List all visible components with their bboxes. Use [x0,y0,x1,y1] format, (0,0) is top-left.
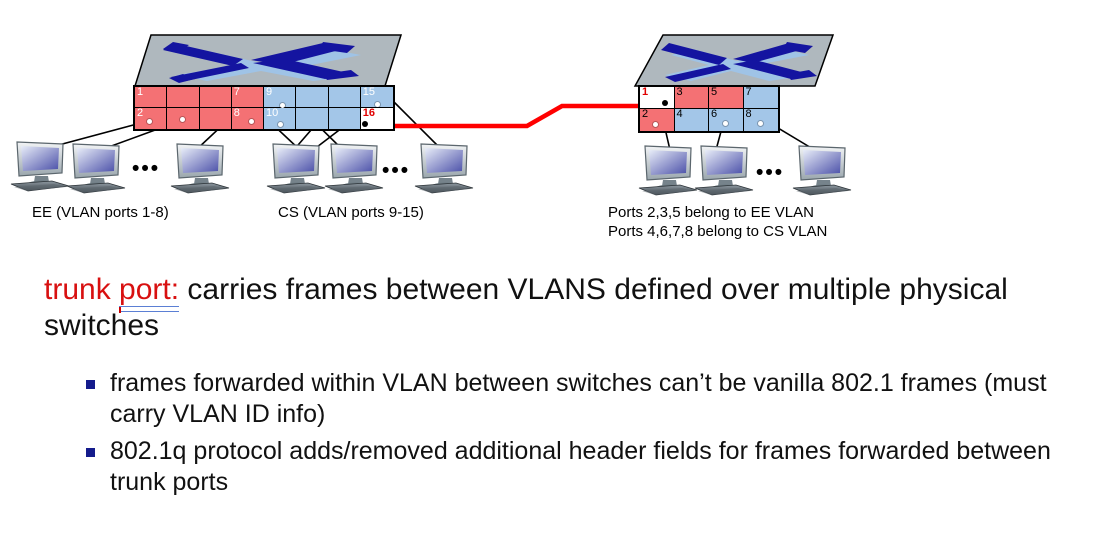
pc-host-4 [264,142,328,198]
lead-rest-text: carries frames between VLANS defined ove… [44,273,1008,342]
ellipsis-right: ••• [756,162,784,183]
right-switch-ports: 1 3 5 7 2 4 6 8 [638,85,780,133]
right-port-5[interactable]: 5 [709,87,744,109]
port-blank-t6[interactable] [296,87,328,108]
right-switch-top [633,33,843,89]
right-port-4[interactable]: 4 [675,109,710,131]
port-blank-t3[interactable] [200,87,232,108]
port-1[interactable]: 1 [135,87,167,108]
port-10[interactable]: 10 [264,108,296,129]
port-blank-b3[interactable] [200,108,232,129]
right-port-3[interactable]: 3 [675,87,710,109]
pc-host-r2 [692,144,756,200]
right-switch: 1 3 5 7 2 4 6 8 [633,33,843,133]
caption-cs-vlan: CS (VLAN ports 9-15) [278,203,424,222]
caption-right-line1: Ports 2,3,5 belong to EE VLAN [608,203,814,222]
right-port-6[interactable]: 6 [709,109,744,131]
port-7[interactable]: 7 [232,87,264,108]
pc-host-r3 [790,144,854,200]
right-port-7[interactable]: 7 [744,87,779,109]
square-bullet-icon [86,448,95,457]
bullet-list: frames forwarded within VLAN between swi… [86,368,1086,504]
bullet-item-1: frames forwarded within VLAN between swi… [86,368,1086,430]
port-9[interactable]: 9 [264,87,296,108]
port-16-trunk[interactable]: 16 [361,108,393,129]
caption-right-line2: Ports 4,6,7,8 belong to CS VLAN [608,222,827,241]
pc-host-5 [322,142,386,198]
lead-keyword-port-text: port: [119,273,179,306]
slide-canvas: 1 7 9 15 2 8 10 16 [0,0,1104,533]
grammar-underline-icon [119,306,179,312]
right-port-8[interactable]: 8 [744,109,779,131]
port-blank-t7[interactable] [329,87,361,108]
grammar-tick-icon [119,307,121,313]
port-blank-b7[interactable] [329,108,361,129]
caption-ee-vlan: EE (VLAN ports 1-8) [32,203,169,222]
port-2[interactable]: 2 [135,108,167,129]
lead-keyword-port: port: [119,272,179,308]
left-switch: 1 7 9 15 2 8 10 16 [133,33,403,131]
pc-host-2 [64,142,128,198]
right-port-1-trunk[interactable]: 1 [640,87,675,109]
pc-host-3 [168,142,232,198]
left-switch-top [133,33,403,89]
port-8[interactable]: 8 [232,108,264,129]
pc-host-6 [412,142,476,198]
left-switch-ports: 1 7 9 15 2 8 10 16 [133,85,395,131]
lead-keyword-trunk: trunk [44,273,111,306]
port-15[interactable]: 15 [361,87,393,108]
trunk-cable [378,106,664,126]
right-port-2[interactable]: 2 [640,109,675,131]
square-bullet-icon [86,380,95,389]
port-blank-b2[interactable] [167,108,199,129]
bullet-text-1: frames forwarded within VLAN between swi… [110,369,1047,428]
ellipsis-left-1: ••• [132,158,160,179]
bullet-item-2: 802.1q protocol adds/removed additional … [86,436,1086,498]
pc-host-1 [8,140,72,196]
bullet-text-2: 802.1q protocol adds/removed additional … [110,437,1051,496]
ellipsis-left-2: ••• [382,160,410,181]
vlan-trunk-diagram: 1 7 9 15 2 8 10 16 [0,0,1104,255]
pc-host-r1 [636,144,700,200]
port-blank-b6[interactable] [296,108,328,129]
lead-paragraph: trunk port: carries frames between VLANS… [44,272,1074,344]
port-blank-t2[interactable] [167,87,199,108]
